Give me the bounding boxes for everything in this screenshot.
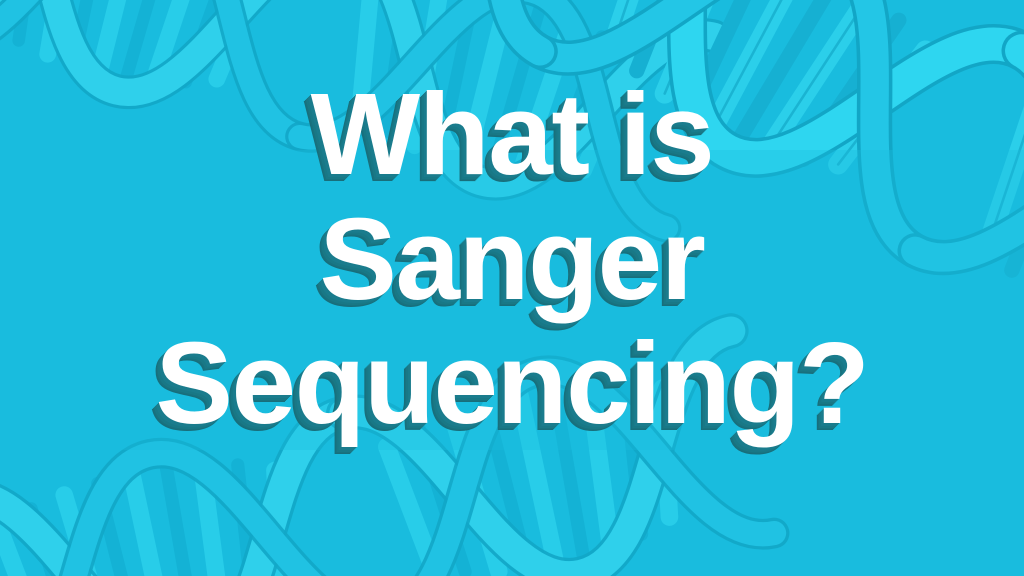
slide-canvas: What is Sanger Sequencing? <box>0 0 1024 576</box>
title-line-3: Sequencing? <box>0 327 1024 440</box>
title-line-2: Sanger <box>0 203 1024 316</box>
title-line-1: What is <box>0 78 1024 191</box>
slide-title: What is Sanger Sequencing? <box>0 78 1024 440</box>
